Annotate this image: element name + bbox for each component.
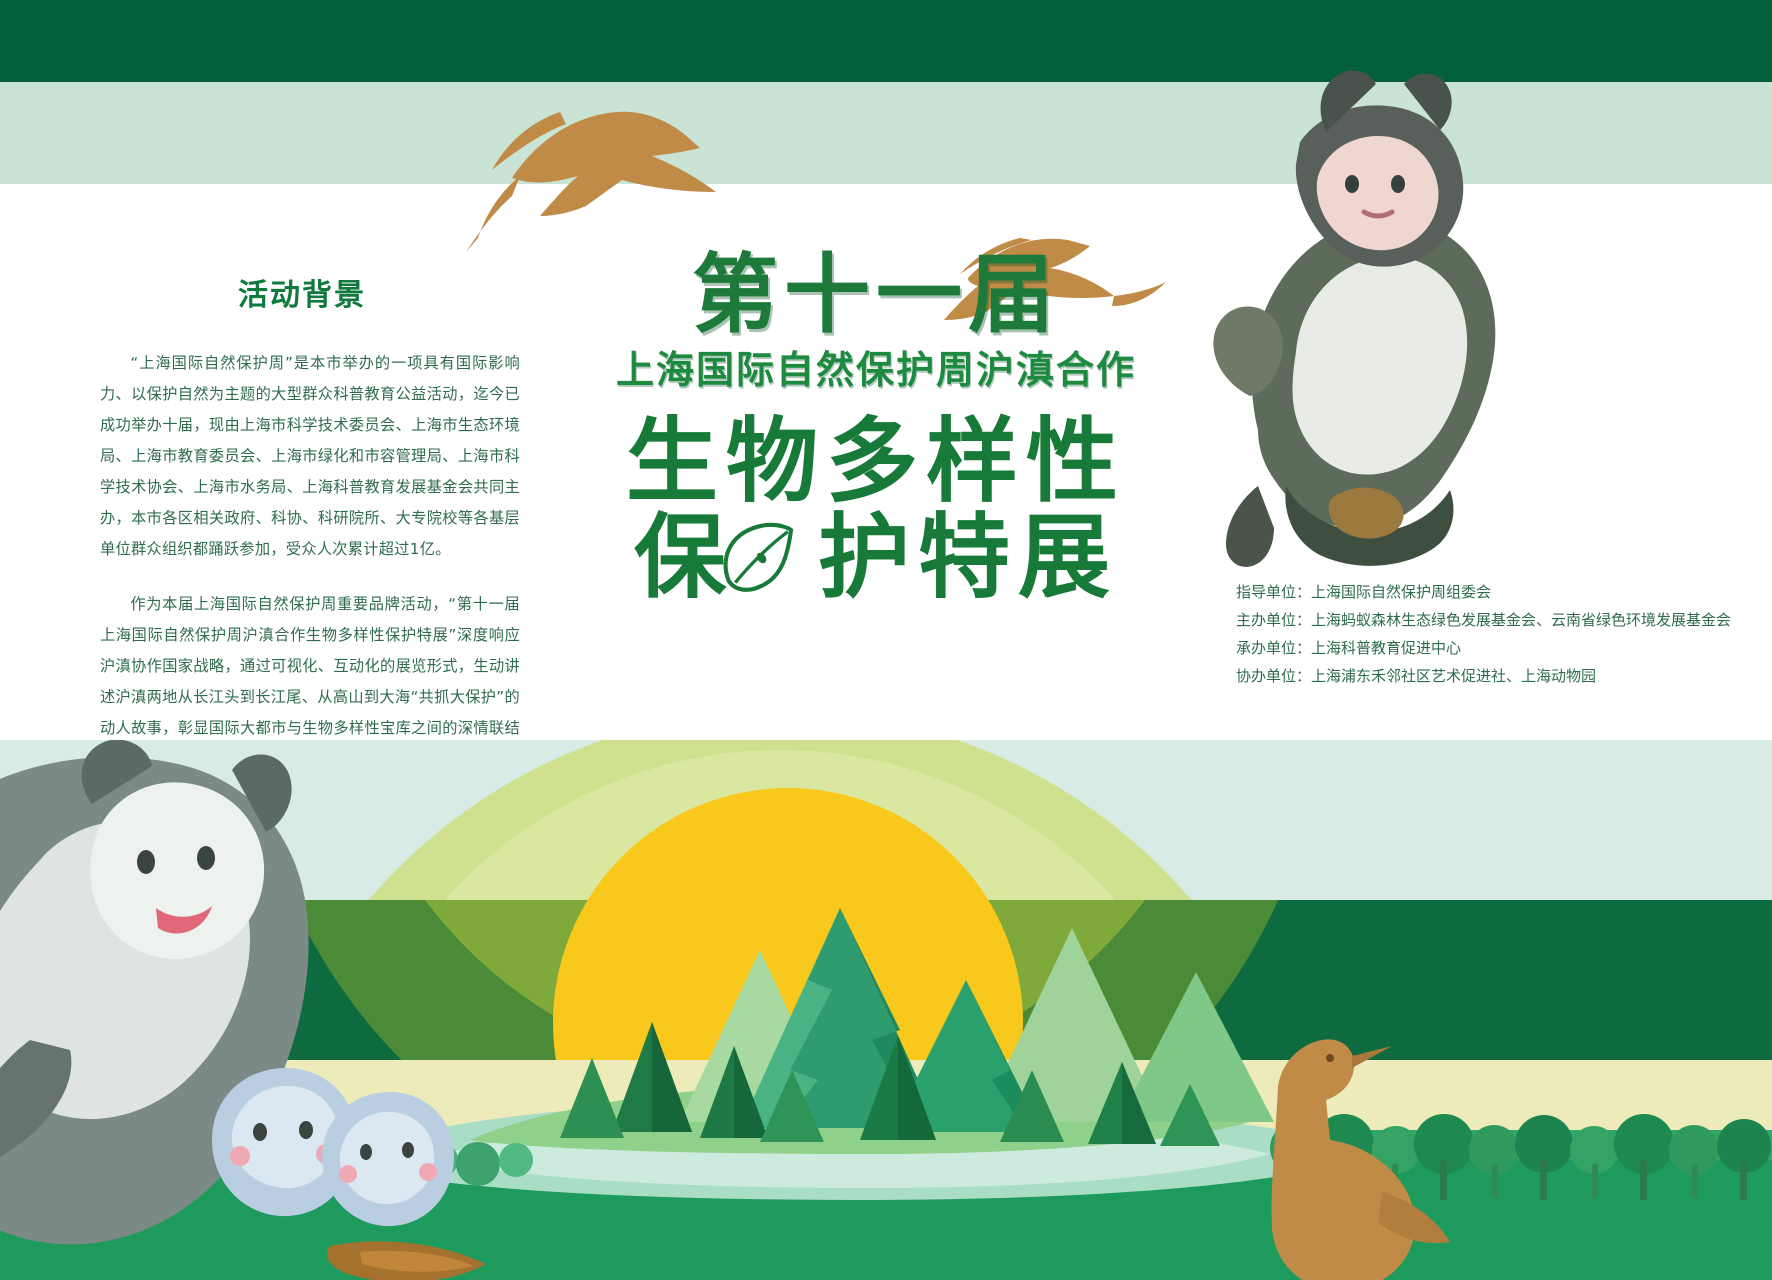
title-edition: 第十一届 bbox=[596, 250, 1156, 340]
credit-line-guidance: 指导单位：上海国际自然保护周组委会 bbox=[1236, 578, 1736, 606]
snub-nosed-monkey-family-illustration bbox=[0, 740, 486, 1280]
title-main-line-2-left: 保 bbox=[634, 504, 734, 611]
bottom-illustration bbox=[0, 740, 1772, 1280]
poster-title-block: 第十一届 上海国际自然保护周沪滇合作 生物多样性 保护特展 bbox=[596, 250, 1156, 607]
credits-block: 指导单位：上海国际自然保护周组委会 主办单位：上海蚂蚁森林生态绿色发展基金会、云… bbox=[1236, 578, 1736, 690]
title-main-line-2-right: 护特展 bbox=[818, 504, 1118, 611]
credit-line-coorganizer: 协办单位：上海浦东禾邻社区艺术促进社、上海动物园 bbox=[1236, 662, 1736, 690]
top-dark-banner bbox=[0, 0, 1772, 82]
section-heading: 活动背景 bbox=[238, 270, 520, 314]
scene-vector-layer bbox=[0, 740, 1772, 1280]
credit-line-undertaker: 承办单位：上海科普教育促进中心 bbox=[1236, 634, 1736, 662]
credit-line-organizer: 主办单位：上海蚂蚁森林生态绿色发展基金会、云南省绿色环境发展基金会 bbox=[1236, 606, 1736, 634]
title-subtitle: 上海国际自然保护周沪滇合作 bbox=[596, 346, 1156, 395]
title-main-line-1: 生物多样性 bbox=[596, 414, 1156, 511]
background-paragraph-1: “上海国际自然保护周”是本市举办的一项具有国际影响力、以保护自然为主题的大型群众… bbox=[100, 348, 520, 565]
background-section: 活动背景 “上海国际自然保护周”是本市举办的一项具有国际影响力、以保护自然为主题… bbox=[100, 270, 520, 799]
title-main-line-2: 保护特展 bbox=[596, 510, 1156, 607]
mint-banner bbox=[0, 82, 1772, 184]
